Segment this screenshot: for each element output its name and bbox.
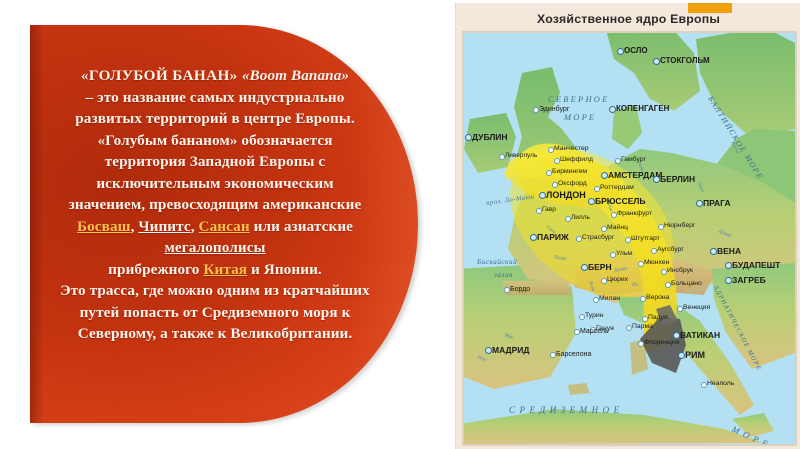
capital-label: ВАТИКАН	[680, 331, 720, 340]
city-label: Турин	[585, 313, 603, 320]
city-label: Флоренция	[644, 340, 679, 347]
city-label: Парма	[632, 324, 653, 331]
text-run: прибрежного	[108, 261, 203, 278]
city-label: Ливерпуль	[505, 153, 537, 160]
capital-marker-dot	[673, 332, 680, 339]
sea-label: залив	[494, 272, 513, 279]
city-label: Барселона	[556, 351, 591, 358]
text-run: и Японии.	[247, 261, 322, 278]
text-line: Северному, а также к Великобритании.	[50, 323, 380, 345]
city-label: Гамбург	[621, 157, 646, 164]
text-line: мегалополисы	[50, 237, 380, 259]
city-label: Шеффилд	[560, 157, 593, 164]
capital-marker-dot	[485, 347, 492, 354]
city-label: Неаполь	[707, 381, 734, 388]
city-label: Эдинбург	[539, 106, 569, 113]
hyperlink-мегалополисы[interactable]: мегалополисы	[164, 239, 265, 256]
sea-label: СРЕДИЗЕМНОЕ	[509, 406, 624, 415]
city-label: Штутгарт	[631, 236, 660, 243]
city-label: Больцано	[671, 281, 702, 288]
capital-marker-dot	[710, 248, 717, 255]
text-run: – это название самых индустриально	[86, 89, 345, 106]
text-line: путей попасть от Средиземного моря к	[50, 302, 380, 324]
text-line: Босваш, Чипитс, Сансан или азиатские	[50, 216, 380, 238]
city-label: Оксфорд	[558, 181, 587, 188]
text-run: исключительным экономическим	[96, 175, 333, 192]
capital-label: ОСЛО	[624, 47, 648, 55]
city-label: Бордо	[510, 286, 530, 293]
capital-label: ПРАГА	[703, 199, 731, 208]
capital-marker-dot	[588, 198, 595, 205]
map-card: Хозяйственное ядро Европы	[455, 3, 800, 449]
capital-label: РИМ	[685, 351, 705, 360]
text-line: прибрежного Китая и Японии.	[50, 259, 380, 281]
capital-label: БРЮССЕЛЬ	[595, 197, 645, 206]
text-line: территория Западной Европы с	[50, 151, 380, 173]
text-line: «ГОЛУБОЙ БАНАН» «Boom Banana»	[50, 65, 380, 87]
hyperlink-босваш[interactable]: Босваш	[77, 218, 131, 235]
capital-label: ПАРИЖ	[537, 233, 569, 242]
panel-body-text: «ГОЛУБОЙ БАНАН» «Boom Banana»– это назва…	[50, 65, 380, 345]
capital-label: БУДАПЕШТ	[732, 261, 780, 270]
city-label: Страсбург	[582, 235, 614, 242]
capital-label: СТОКГОЛЬМ	[660, 57, 710, 65]
city-label: Франкфурт	[617, 211, 652, 218]
city-label: Лилль	[571, 215, 590, 222]
capital-label: ВЕНА	[717, 247, 741, 256]
capital-label: ДУБЛИН	[472, 133, 508, 142]
capital-marker-dot	[465, 134, 472, 141]
text-line: исключительным экономическим	[50, 173, 380, 195]
city-label: Гавр	[542, 207, 556, 214]
city-label: Падуя	[648, 315, 668, 322]
city-label: Бирмингем	[552, 169, 587, 176]
text-run: «Boom Banana»	[242, 67, 349, 84]
map-image-frame: СЕВЕРНОЕМОРЕБАЛТИЙСКОЕ МОРЕпрол. Ла-Манш…	[462, 31, 797, 446]
sea-label: МОРЕ	[564, 113, 596, 122]
city-label: Цюрих	[607, 277, 628, 284]
text-run: развитых территорий в центре Европы.	[75, 110, 355, 127]
sea-label: Бискайский	[477, 259, 517, 266]
city-label: Милан	[599, 296, 620, 303]
text-panel: «ГОЛУБОЙ БАНАН» «Boom Banana»– это назва…	[30, 25, 418, 423]
text-run: значением, превосходящим американские	[69, 196, 362, 213]
text-run: «ГОЛУБОЙ БАНАН»	[81, 67, 242, 84]
hyperlink-чипитс[interactable]: Чипитс	[138, 218, 190, 235]
text-run: «Голубым бананом» обозначается	[97, 132, 332, 149]
capital-marker-dot	[725, 262, 732, 269]
text-line: Это трасса, где можно одним из кратчайши…	[50, 280, 380, 302]
capital-label: ЗАГРЕБ	[732, 276, 766, 285]
capital-label: ЛОНДОН	[546, 191, 586, 200]
capital-marker-dot	[539, 192, 546, 199]
text-run: или азиатские	[250, 218, 353, 235]
city-label: Мюнхен	[644, 260, 669, 267]
city-label: Нюрнберг	[664, 223, 695, 230]
text-run: Это трасса, где можно одним из кратчайши…	[60, 282, 370, 299]
capital-marker-dot	[617, 48, 624, 55]
text-line: – это название самых индустриально	[50, 87, 380, 109]
capital-marker-dot	[653, 176, 660, 183]
city-label: Манчестер	[554, 146, 589, 153]
text-run: ,	[191, 218, 199, 235]
text-line: значением, превосходящим американские	[50, 194, 380, 216]
text-run: путей попасть от Средиземного моря к	[80, 304, 351, 321]
city-label: Верона	[646, 295, 669, 302]
city-label: Роттердам	[600, 185, 634, 192]
capital-marker-dot	[725, 277, 732, 284]
text-run: Северному, а также к Великобритании.	[78, 325, 353, 342]
city-label: Марсель	[580, 328, 609, 335]
city-label: Аугсбург	[657, 247, 684, 254]
capital-marker-dot	[581, 264, 588, 271]
city-label: Инсбрук	[667, 268, 693, 275]
capital-marker-dot	[653, 58, 660, 65]
sea-label: СЕВЕРНОЕ	[548, 95, 610, 104]
capital-marker-dot	[678, 352, 685, 359]
text-run: территория Западной Европы с	[105, 153, 326, 170]
city-label: Венеция	[683, 305, 710, 312]
city-label: Майнц	[607, 225, 628, 232]
panel-left-shading	[30, 25, 44, 423]
capital-marker-dot	[609, 106, 616, 113]
text-line: «Голубым бананом» обозначается	[50, 130, 380, 152]
capital-label: МАДРИД	[492, 346, 529, 355]
text-line: развитых территорий в центре Европы.	[50, 108, 380, 130]
capital-label: БЕРЛИН	[660, 175, 695, 184]
hyperlink-китая[interactable]: Китая	[203, 261, 247, 278]
city-label: Ульм	[616, 251, 632, 258]
capital-marker-dot	[601, 172, 608, 179]
capital-label: КОПЕНГАГЕН	[616, 105, 669, 113]
hyperlink-сансан[interactable]: Сансан	[199, 218, 250, 235]
capital-label: БЕРН	[588, 263, 612, 272]
map-title: Хозяйственное ядро Европы	[456, 12, 800, 26]
capital-marker-dot	[530, 234, 537, 241]
river-label: По	[632, 283, 638, 288]
capital-marker-dot	[696, 200, 703, 207]
